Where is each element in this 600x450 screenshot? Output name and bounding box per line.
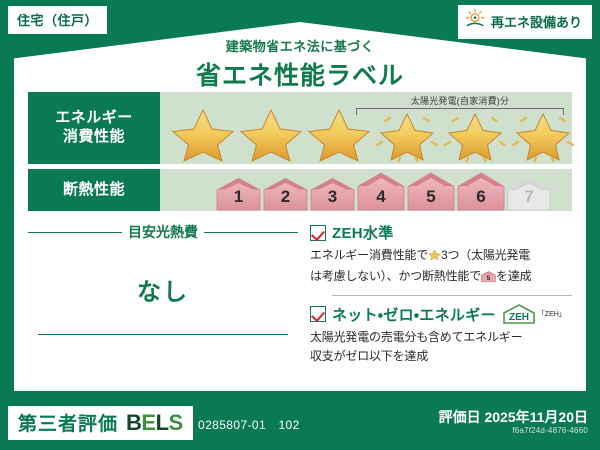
checkbox-checked-icon [310,306,326,322]
header-title-block: 建築物省エネ法に基づく 省エネ性能ラベル [0,36,600,92]
header-subtitle: 建築物省エネ法に基づく [0,36,600,55]
insulation-level-number: 5 [407,187,455,207]
bels-letter-s: S [169,410,183,435]
energy-label-line1: エネルギー [55,109,133,128]
utility-cost-heading: 目安光熱費 [28,222,298,242]
svg-text:ZEH: ZEH [509,312,529,323]
insulation-level-scale: 1 2 [216,171,551,211]
zeh-standard-check-item: ZEH水準 エネルギー消費性能で3つ（太陽光発電は考慮しない）、かつ断熱性能で5… [310,222,572,288]
energy-performance-label: 住宅（住戸） 再エネ設備あり 建築物省エネ法に基づく 省エネ性能ラベル [0,0,600,450]
bels-letter-l: L [156,410,169,435]
insulation-level-house: 1 [216,177,261,211]
footer-bar: 第三者評価 BELS 0285807-01 102 評価日 2025年11月20… [0,398,600,450]
star-rating [170,106,576,162]
insulation-level-number: 3 [310,187,355,207]
zeh-logo-caption: 「ZEH」 [538,309,566,319]
insulation-performance-row-label: 断熱性能 [28,169,160,211]
checkbox-checked-icon [310,225,326,241]
zeh-desc-part3: を達成 [496,269,531,283]
utility-cost-panel: 目安光熱費 なし [28,222,298,371]
insulation-level-house: 4 [357,171,405,211]
star-icon-solar [510,106,576,162]
insulation-level-number: 7 [507,187,551,207]
evaluation-uid: f6a7f24d-4876-4660 [512,426,588,435]
inline-house-icon: 5 [481,270,496,289]
renewable-equipment-label: 再エネ設備あり [491,12,582,31]
utility-cost-bottom-rule [38,334,288,335]
certification-checklist: ZEH水準 エネルギー消費性能で3つ（太陽光発電は考慮しない）、かつ断熱性能で5… [298,222,572,371]
star-icon [170,106,236,162]
checklist-divider [332,295,572,296]
utility-cost-heading-text: 目安光熱費 [128,222,198,242]
zeh-desc-part1: エネルギー消費性能で [310,248,428,262]
evaluation-date: 評価日 2025年11月20日 [439,407,588,427]
building-type-label: 住宅（住戸） [17,13,98,28]
zeh-standard-header: ZEH水準 [310,222,572,243]
insulation-level-number: 4 [357,187,405,207]
insulation-level-number: 2 [263,187,308,207]
energy-performance-row-label: エネルギー 消費性能 [28,92,160,164]
net-zero-desc-line2: 収支がゼロ以下を達成 [310,349,428,363]
insulation-level-number: 1 [216,187,261,207]
utility-cost-value: なし [28,272,298,307]
bels-letter-e: E [141,410,155,435]
star-icon [238,106,304,162]
third-party-evaluation-label: 第三者評価 [18,409,118,436]
insulation-level-house: 5 [407,171,455,211]
bels-wordmark: BELS [126,410,183,436]
certificate-number: 0285807-01 102 [198,416,300,433]
bels-letter-b: B [126,410,141,435]
renewable-equipment-badge: 再エネ設備あり [458,5,592,39]
energy-label-line2: 消費性能 [63,128,125,147]
svg-text:5: 5 [487,275,491,282]
net-zero-energy-title: ネット・ゼロ・エネルギー [332,304,496,325]
energy-performance-row-body: 太陽光発電(自家消費)分 [160,92,572,164]
insulation-level-number: 6 [457,187,505,207]
bels-certification-mark: 第三者評価 BELS [8,406,193,440]
zeh-desc-star-count: 3つ（太陽光発電 [441,248,530,262]
net-zero-energy-check-item: ネット・ゼロ・エネルギー ZEH 「ZEH」 太陽光発電の売電分も含めてエネルギ… [310,303,572,365]
solar-sun-icon [464,8,486,35]
star-icon [306,106,372,162]
zeh-logo-mark: ZEH 「ZEH」 [502,303,566,325]
performance-rows: エネルギー 消費性能 太陽光発電(自家消費)分 [28,92,572,216]
insulation-performance-row: 断熱性能 1 [28,169,572,211]
zeh-standard-title: ZEH水準 [332,222,394,243]
star-icon-solar [442,106,508,162]
heading-rule-left [28,232,122,233]
star-icon-solar [374,106,440,162]
insulation-level-house: 6 [457,171,505,211]
insulation-level-house: 3 [310,177,355,211]
insulation-performance-row-body: 1 2 [160,169,572,211]
zeh-desc-part2: は考慮しない）、かつ断熱性能で [310,269,481,283]
energy-performance-row: エネルギー 消費性能 太陽光発電(自家消費)分 [28,92,572,164]
insulation-label: 断熱性能 [63,181,125,200]
lower-section: 目安光熱費 なし ZEH水準 エネルギー消費性能で3つ（太陽光発電は考慮しない）… [28,222,572,371]
main-card: エネルギー 消費性能 太陽光発電(自家消費)分 [14,86,586,391]
insulation-level-house: 2 [263,177,308,211]
net-zero-desc-line1: 太陽光発電の売電分も含めてエネルギー [310,330,522,344]
building-type-badge: 住宅（住戸） [8,6,107,34]
header-title: 省エネ性能ラベル [0,56,600,92]
zeh-standard-description: エネルギー消費性能で3つ（太陽光発電は考慮しない）、かつ断熱性能で5を達成 [310,246,572,288]
insulation-level-house-inactive: 7 [507,177,551,211]
heading-rule-right [204,232,298,233]
net-zero-energy-header: ネット・ゼロ・エネルギー ZEH 「ZEH」 [310,303,572,325]
inline-star-icon [428,248,441,267]
net-zero-energy-description: 太陽光発電の売電分も含めてエネルギー収支がゼロ以下を達成 [310,328,572,365]
